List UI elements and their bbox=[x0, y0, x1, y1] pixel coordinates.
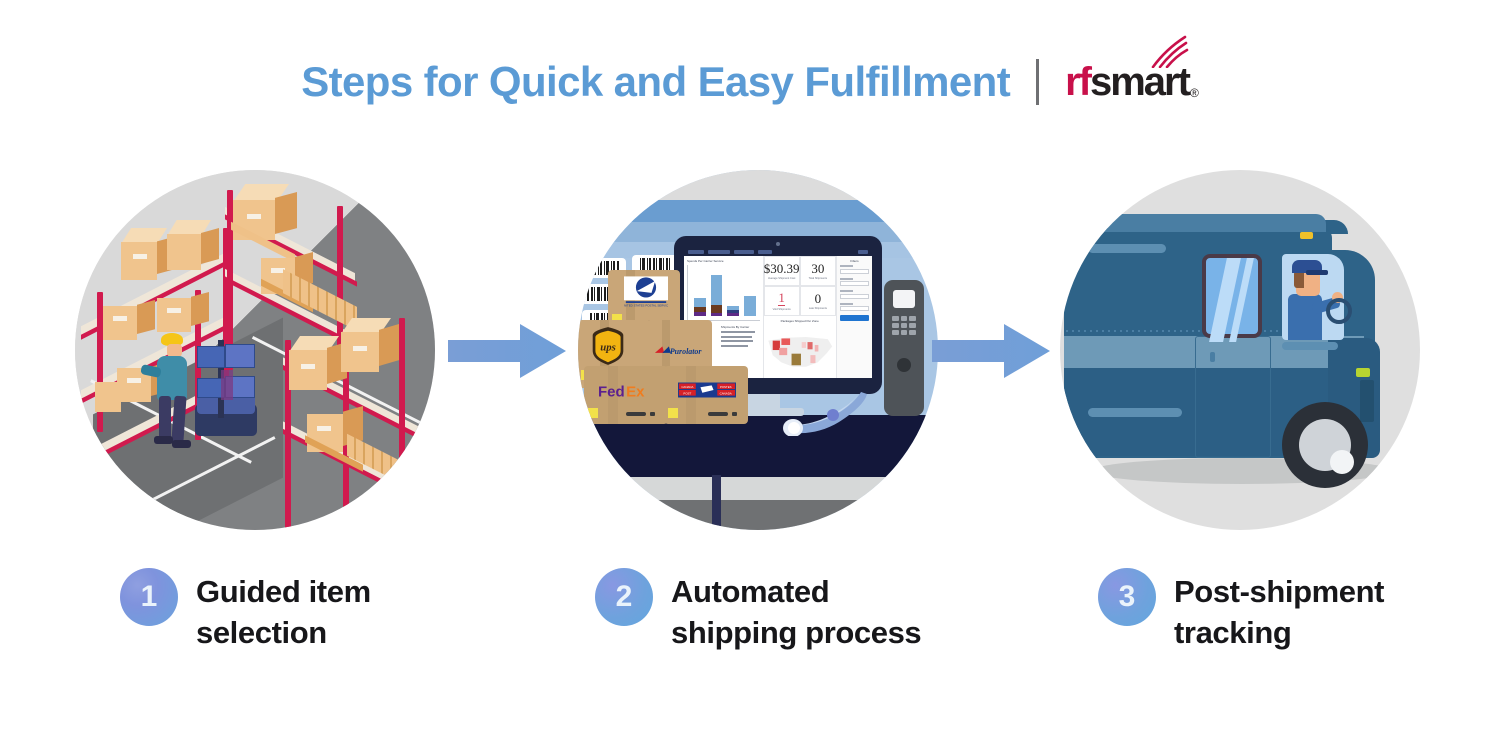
kpi-label: Late Shipments bbox=[809, 307, 827, 310]
chart-title: Spends Per Carrier Service bbox=[687, 259, 760, 263]
wheel-rim bbox=[1299, 419, 1351, 471]
title-divider bbox=[1036, 59, 1039, 105]
cardboard-box-front bbox=[157, 298, 191, 332]
scanner-keypad[interactable] bbox=[892, 316, 916, 335]
dashboard-toolbar bbox=[684, 248, 872, 256]
wheel-hub bbox=[1330, 450, 1354, 474]
panel-title: Shipments By Carrier bbox=[721, 325, 760, 329]
infographic-page: Steps for Quick and Easy Fulfillment rf … bbox=[0, 0, 1500, 731]
truck-cab-trim bbox=[1282, 342, 1338, 350]
driver-torso bbox=[1288, 294, 1322, 340]
svg-text:Purolator: Purolator bbox=[670, 347, 703, 356]
cardboard-box-side bbox=[137, 300, 155, 334]
step-number-badge-1: 1 bbox=[120, 568, 178, 626]
forklift-tote bbox=[197, 346, 225, 368]
webcam-icon bbox=[776, 242, 780, 246]
truck-door-outline bbox=[1195, 336, 1271, 458]
worker-leg bbox=[159, 396, 171, 440]
fedex-logo-icon: Fed Ex bbox=[598, 382, 660, 400]
cardboard-box-side bbox=[201, 228, 219, 264]
svg-text:CANADA: CANADA bbox=[681, 385, 693, 389]
background-band bbox=[578, 200, 938, 222]
kpi-value: 30 bbox=[811, 262, 824, 275]
ups-logo-icon: ups bbox=[590, 326, 626, 366]
apply-filter-button[interactable] bbox=[840, 315, 869, 321]
bar-group bbox=[744, 296, 756, 316]
worker-shoe bbox=[172, 440, 191, 448]
forklift-tote bbox=[225, 344, 255, 368]
arrow-step2-to-step3 bbox=[932, 318, 1052, 384]
rf-handheld-scanner[interactable] bbox=[884, 280, 924, 416]
truck-roof-marker-light bbox=[1300, 232, 1313, 239]
signal-waves-icon bbox=[1147, 34, 1189, 68]
cardboard-box-side bbox=[275, 192, 297, 234]
desk-leg bbox=[712, 475, 721, 530]
truck-lower-trim bbox=[1088, 408, 1182, 417]
cardboard-box-front bbox=[103, 306, 137, 340]
dashboard-body: Spends Per Carrier Service bbox=[684, 256, 872, 378]
header: Steps for Quick and Easy Fulfillment rf … bbox=[0, 58, 1500, 106]
captions-row: 1 Guided item selection 2 Automated ship… bbox=[0, 560, 1500, 670]
toolbar-item[interactable] bbox=[858, 250, 868, 254]
kpi-grid: $30.39 Average Shipment Cost 30 Total Sh… bbox=[764, 256, 837, 316]
shipping-desk-illustration: Spends Per Carrier Service bbox=[578, 170, 938, 530]
cardboard-box-front bbox=[341, 332, 379, 372]
steering-wheel-icon bbox=[1326, 298, 1352, 324]
step-caption-3: 3 Post-shipment tracking bbox=[1098, 568, 1384, 653]
kpi-card: 1 Void Shipments bbox=[764, 286, 800, 316]
usps-logo-icon: UNITED STATES POSTAL SERVICE bbox=[624, 276, 668, 308]
truck-grille bbox=[1360, 380, 1374, 422]
scenes-row: Spends Per Carrier Service bbox=[0, 170, 1500, 530]
kpi-label: Average Shipment Cost bbox=[768, 277, 795, 280]
canada-post-logo-icon: CANADA POST POSTES CANADA bbox=[678, 382, 736, 398]
step-number-badge-3: 3 bbox=[1098, 568, 1156, 626]
truck-front-marker-light bbox=[1356, 368, 1370, 377]
logo-text-rf: rf bbox=[1065, 62, 1090, 102]
box-label bbox=[113, 316, 127, 321]
cardboard-box-side bbox=[379, 324, 399, 366]
logo-registered-mark: ® bbox=[1190, 86, 1199, 100]
filter-field[interactable] bbox=[840, 265, 869, 274]
bar-chart bbox=[687, 265, 760, 321]
toolbar-item[interactable] bbox=[734, 250, 754, 254]
truck-body-top-trim bbox=[1086, 214, 1326, 232]
dashboard-middle-column: $30.39 Average Shipment Cost 30 Total Sh… bbox=[764, 256, 838, 378]
floor-shadow bbox=[578, 500, 938, 530]
truck-upper-trim bbox=[1088, 244, 1166, 253]
delivery-truck-illustration bbox=[1060, 170, 1420, 530]
driver-cap-brim bbox=[1306, 270, 1328, 275]
toolbar-item[interactable] bbox=[758, 250, 772, 254]
rfsmart-logo: rf smart ® bbox=[1065, 62, 1199, 102]
cardboard-box-side bbox=[191, 292, 209, 326]
kpi-value: $30.39 bbox=[764, 262, 800, 275]
us-map-icon bbox=[764, 325, 837, 378]
step-label-3: Post-shipment tracking bbox=[1174, 568, 1384, 653]
kpi-label: Void Shipments bbox=[773, 308, 791, 311]
barcode-scanner-gun[interactable] bbox=[783, 388, 869, 436]
step-caption-2: 2 Automated shipping process bbox=[595, 568, 921, 653]
worker-shoe bbox=[154, 436, 173, 444]
svg-text:UNITED STATES POSTAL SERVICE: UNITED STATES POSTAL SERVICE bbox=[624, 304, 668, 308]
filter-field[interactable] bbox=[840, 278, 869, 287]
toolbar-item[interactable] bbox=[688, 250, 704, 254]
dashboard-screen: Spends Per Carrier Service bbox=[684, 248, 872, 378]
truck-door-handle[interactable] bbox=[1210, 352, 1215, 362]
cardboard-box-front bbox=[95, 382, 121, 412]
scanner-screen bbox=[893, 290, 915, 308]
box-label bbox=[167, 308, 181, 313]
purolator-logo-icon: Purolator bbox=[654, 344, 708, 358]
kpi-card: 0 Late Shipments bbox=[800, 286, 836, 316]
scanner-trigger-button[interactable] bbox=[897, 358, 911, 372]
box-label bbox=[353, 346, 367, 351]
box-label bbox=[133, 254, 147, 259]
filters-title: Filters bbox=[840, 259, 869, 263]
bar-group bbox=[711, 275, 723, 316]
step-label-1: Guided item selection bbox=[196, 568, 371, 653]
svg-text:POSTES: POSTES bbox=[720, 385, 732, 389]
warehouse-picking-illustration bbox=[75, 170, 435, 530]
svg-text:POST: POST bbox=[683, 391, 691, 395]
kpi-card: 30 Total Shipments bbox=[800, 256, 836, 286]
cardboard-box-front bbox=[167, 234, 201, 270]
arrow-step1-to-step2 bbox=[448, 318, 568, 384]
kpi-card: $30.39 Average Shipment Cost bbox=[764, 256, 800, 286]
worker-torso bbox=[157, 356, 187, 400]
box-label bbox=[317, 426, 331, 431]
bar-group bbox=[694, 298, 706, 316]
step-number-badge-2: 2 bbox=[595, 568, 653, 626]
filter-field[interactable] bbox=[840, 303, 869, 312]
kpi-value: 0 bbox=[815, 292, 822, 305]
dashboard-filters-panel: Filters bbox=[837, 256, 872, 378]
forklift-accent bbox=[221, 370, 233, 400]
bar-group bbox=[727, 306, 739, 316]
step-label-2: Automated shipping process bbox=[671, 568, 921, 653]
truck-rivet-line bbox=[1066, 330, 1316, 332]
kpi-label: Total Shipments bbox=[809, 277, 827, 280]
cardboard-box-front bbox=[289, 350, 327, 390]
cardboard-box-front bbox=[121, 242, 157, 280]
svg-text:Ex: Ex bbox=[626, 384, 645, 400]
box-label bbox=[127, 378, 141, 383]
logo-text-smart: smart bbox=[1090, 62, 1189, 102]
truck-side-window bbox=[1202, 254, 1262, 338]
svg-text:Fed: Fed bbox=[598, 384, 625, 400]
box-label bbox=[301, 364, 315, 369]
toolbar-item[interactable] bbox=[708, 250, 730, 254]
box-label bbox=[247, 214, 261, 219]
page-title: Steps for Quick and Easy Fulfillment bbox=[301, 58, 1010, 106]
us-heatmap bbox=[764, 325, 837, 378]
svg-text:ups: ups bbox=[600, 342, 616, 354]
kpi-value: 1 bbox=[778, 291, 785, 306]
panel-title: Packages Shipped Per Zone bbox=[764, 319, 837, 323]
desk-surface bbox=[578, 415, 938, 477]
package-canada-post: CANADA POST POSTES CANADA bbox=[664, 366, 748, 424]
filter-field[interactable] bbox=[840, 290, 869, 299]
step-caption-1: 1 Guided item selection bbox=[120, 568, 371, 653]
truck-wheel bbox=[1282, 402, 1368, 488]
package-fedex: Fed Ex bbox=[584, 366, 668, 424]
background-band bbox=[578, 170, 938, 200]
svg-text:CANADA: CANADA bbox=[720, 391, 732, 395]
